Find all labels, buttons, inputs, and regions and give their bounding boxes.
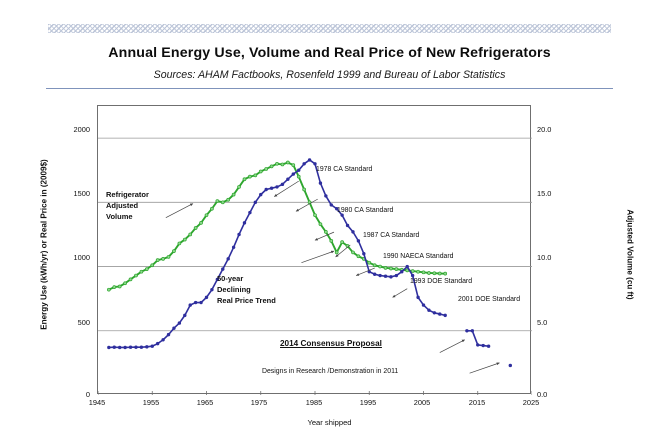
annotation-leader-arrow (393, 289, 408, 298)
series-point-0 (243, 178, 246, 181)
series-point-1 (167, 333, 170, 336)
series-point-0 (276, 162, 279, 165)
annotation-leader-arrow (296, 199, 318, 211)
annotation-volume-label: Refrigerator Adjusted Volume (106, 190, 149, 223)
series-point-0 (389, 267, 392, 270)
series-point-1 (243, 222, 246, 225)
series-point-1 (194, 301, 197, 304)
annotation-line: Refrigerator (106, 190, 149, 201)
series-point-2 (471, 329, 474, 332)
annotation-line: Volume (106, 212, 149, 223)
series-point-0 (286, 161, 289, 164)
y-tick-right-5: 5.0 (537, 318, 579, 327)
series-point-0 (151, 264, 154, 267)
series-point-1 (254, 201, 257, 204)
annotation-leader-arrow (356, 268, 374, 275)
y-tick-left-1500: 1500 (48, 189, 90, 198)
annotation-1987-ca-standard: 1987 CA Standard (363, 232, 419, 240)
series-point-1 (395, 274, 398, 277)
series-point-0 (183, 238, 186, 241)
series-point-1 (162, 338, 165, 341)
series-point-0 (438, 272, 441, 275)
series-point-2 (482, 344, 485, 347)
annotation-leader-arrow (440, 340, 465, 353)
plot-area: Refrigerator Adjusted Volume 50-year Dec… (97, 105, 531, 394)
series-point-1 (384, 275, 387, 278)
series-point-0 (270, 165, 273, 168)
series-point-0 (254, 174, 257, 177)
series-point-0 (118, 285, 121, 288)
series-point-1 (422, 304, 425, 307)
series-point-0 (221, 201, 224, 204)
series-point-1 (205, 296, 208, 299)
series-point-0 (319, 223, 322, 226)
series-point-0 (297, 175, 300, 178)
series-point-0 (351, 251, 354, 254)
series-point-1 (319, 182, 322, 185)
annotation-1993-doe-standard: 1993 DOE Standard (410, 278, 472, 286)
x-tick-2015: 2015 (457, 398, 497, 407)
series-point-1 (270, 187, 273, 190)
series-point-0 (167, 255, 170, 258)
series-point-1 (314, 162, 317, 165)
x-axis-title: Year shipped (0, 418, 659, 427)
annotation-price-trend-label: 50-year Declining Real Price Trend (217, 274, 276, 307)
series-point-1 (113, 346, 116, 349)
series-point-1 (346, 224, 349, 227)
series-point-0 (427, 271, 430, 274)
series-point-1 (352, 231, 355, 234)
series-point-0 (433, 272, 436, 275)
decorative-zigzag-band (48, 24, 611, 33)
series-point-1 (433, 311, 436, 314)
series-point-1 (156, 342, 159, 345)
series-point-1 (400, 270, 403, 273)
x-tick-1975: 1975 (239, 398, 279, 407)
series-point-1 (232, 246, 235, 249)
series-point-1 (438, 313, 441, 316)
series-line-0 (109, 163, 445, 290)
series-point-0 (178, 242, 181, 245)
annotation-leader-arrow (470, 363, 500, 373)
series-point-0 (303, 188, 306, 191)
series-point-0 (129, 278, 132, 281)
series-point-1 (406, 265, 409, 268)
series-point-1 (118, 346, 121, 349)
series-point-1 (292, 173, 295, 176)
series-point-1 (411, 274, 414, 277)
series-point-0 (248, 175, 251, 178)
series-point-1 (330, 204, 333, 207)
series-point-1 (108, 346, 111, 349)
series-point-1 (297, 169, 300, 172)
series-point-0 (162, 257, 165, 260)
series-point-0 (194, 227, 197, 230)
y-tick-left-500: 500 (48, 318, 90, 327)
series-point-0 (417, 270, 420, 273)
series-point-0 (444, 272, 447, 275)
page-title: Annual Energy Use, Volume and Real Price… (0, 45, 659, 61)
series-point-0 (232, 193, 235, 196)
series-point-2 (476, 344, 479, 347)
series-point-0 (379, 265, 382, 268)
series-point-0 (189, 233, 192, 236)
y-tick-right-20: 20.0 (537, 125, 579, 134)
series-point-1 (200, 301, 203, 304)
series-point-0 (341, 241, 344, 244)
series-point-0 (281, 163, 284, 166)
series-point-1 (357, 240, 360, 243)
series-point-1 (276, 186, 279, 189)
series-point-1 (238, 233, 241, 236)
annotation-1978-ca-standard: 1978 CA Standard (316, 166, 372, 174)
series-point-0 (259, 170, 262, 173)
y-tick-left-2000: 2000 (48, 125, 90, 134)
series-point-0 (200, 221, 203, 224)
series-point-1 (287, 178, 290, 181)
annotation-2014-consensus-proposal: 2014 Consensus Proposal (280, 339, 382, 349)
series-point-0 (395, 268, 398, 271)
series-point-0 (140, 270, 143, 273)
series-point-1 (145, 345, 148, 348)
series-point-0 (216, 200, 219, 203)
series-point-1 (221, 268, 224, 271)
chart-page: Annual Energy Use, Volume and Real Price… (0, 0, 659, 446)
series-point-0 (156, 259, 159, 262)
series-point-0 (113, 286, 116, 289)
series-point-1 (281, 183, 284, 186)
x-tick-2005: 2005 (402, 398, 442, 407)
series-point-1 (129, 346, 132, 349)
series-point-1 (183, 314, 186, 317)
annotation-2001-doe-standard: 2001 DOE Standard (458, 296, 520, 304)
series-point-1 (211, 288, 214, 291)
series-point-0 (238, 185, 241, 188)
series-point-1 (189, 304, 192, 307)
series-point-1 (178, 322, 181, 325)
series-point-1 (259, 193, 262, 196)
annotation-leader-arrow (274, 181, 298, 196)
series-point-1 (265, 188, 268, 191)
annotation-designs-in-research: Designs in Research /Demonstration in 20… (262, 368, 398, 376)
title-divider (46, 88, 613, 89)
series-point-2 (487, 345, 490, 348)
series-point-0 (314, 214, 317, 217)
series-point-1 (227, 257, 230, 260)
series-point-1 (428, 309, 431, 312)
chart-canvas (98, 106, 532, 395)
series-point-0 (330, 239, 333, 242)
series-point-2 (466, 329, 469, 332)
series-point-1 (303, 162, 306, 165)
series-point-3 (509, 364, 512, 367)
annotation-leader-arrow (166, 204, 193, 218)
series-point-0 (172, 250, 175, 253)
series-point-1 (140, 346, 143, 349)
series-point-1 (173, 327, 176, 330)
series-point-1 (135, 346, 138, 349)
series-point-1 (444, 314, 447, 317)
series-point-1 (390, 275, 393, 278)
annotation-1990-naeca-standard: 1990 NAECA Standard (383, 253, 453, 261)
series-point-0 (373, 264, 376, 267)
x-tick-2025: 2025 (511, 398, 551, 407)
series-point-1 (124, 346, 127, 349)
y-tick-right-15: 15.0 (537, 189, 579, 198)
series-point-1 (417, 296, 420, 299)
annotation-line: Adjusted (106, 201, 149, 212)
annotation-line: Real Price Trend (217, 296, 276, 307)
series-point-0 (384, 266, 387, 269)
series-point-0 (145, 268, 148, 271)
x-tick-1965: 1965 (185, 398, 225, 407)
series-point-1 (362, 252, 365, 255)
series-point-1 (151, 345, 154, 348)
annotation-leader-arrow (301, 251, 334, 263)
series-point-1 (249, 211, 252, 214)
series-point-0 (324, 230, 327, 233)
y-axis-left-title: Energy Use (kWh/yr) or Real Price in (20… (40, 115, 49, 375)
series-point-1 (373, 273, 376, 276)
series-point-1 (379, 274, 382, 277)
series-point-1 (308, 159, 311, 162)
annotation-line: 50-year (217, 274, 276, 285)
x-tick-1985: 1985 (294, 398, 334, 407)
series-point-0 (357, 255, 360, 258)
series-point-0 (335, 251, 338, 254)
series-point-0 (411, 270, 414, 273)
x-tick-1945: 1945 (77, 398, 117, 407)
series-point-0 (422, 271, 425, 274)
x-tick-1955: 1955 (131, 398, 171, 407)
annotation-1980-ca-standard: 1980 CA Standard (337, 207, 393, 215)
series-point-0 (265, 167, 268, 170)
series-point-0 (107, 288, 110, 291)
series-point-1 (325, 195, 328, 198)
series-point-0 (227, 198, 230, 201)
series-point-0 (292, 164, 295, 167)
series-point-0 (205, 214, 208, 217)
x-tick-1995: 1995 (348, 398, 388, 407)
annotation-line: Declining (217, 285, 276, 296)
y-tick-right-10: 10.0 (537, 253, 579, 262)
y-tick-left-1000: 1000 (48, 253, 90, 262)
series-point-0 (124, 282, 127, 285)
chart-subtitle: Sources: AHAM Factbooks, Rosenfeld 1999 … (0, 69, 659, 81)
series-point-0 (368, 261, 371, 264)
series-point-0 (210, 207, 213, 210)
y-axis-right-title: Adjusted Volume (cu ft) (626, 130, 635, 380)
series-point-0 (134, 274, 137, 277)
